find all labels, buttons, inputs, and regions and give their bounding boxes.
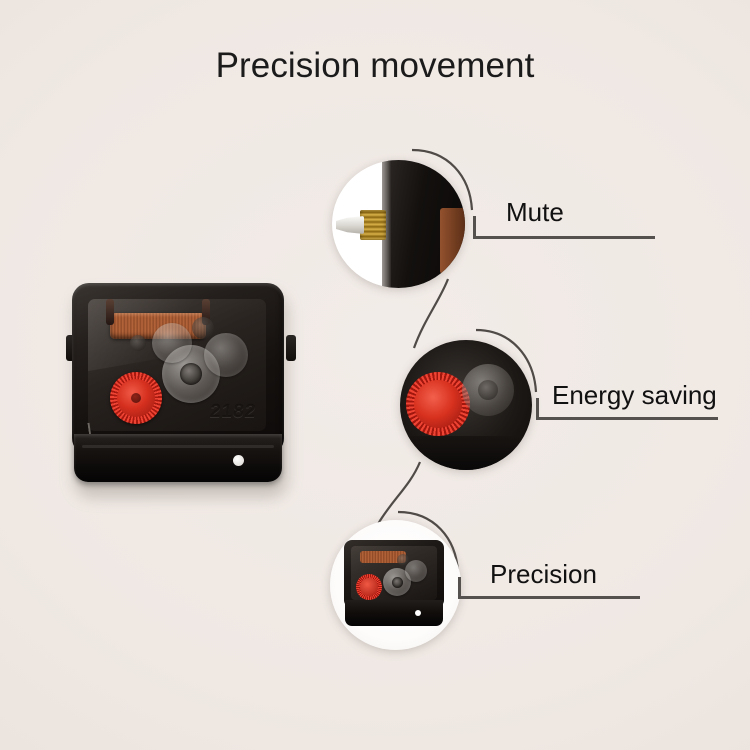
main-product-image: 2182 <box>72 283 290 498</box>
gear-small-macro <box>397 554 409 566</box>
tray-groove <box>82 445 274 448</box>
movement-housing: 2182 <box>72 283 284 455</box>
connector-mute-to-energy <box>414 279 448 348</box>
battery-tray-macro <box>345 600 443 626</box>
gear-pinion <box>130 335 146 351</box>
red-gear-hub <box>131 393 141 403</box>
callout-label-mute: Mute <box>506 196 564 228</box>
white-shaft-tip <box>336 216 364 234</box>
tray-indicator-dot-macro <box>415 610 421 616</box>
movement-macro <box>344 540 448 630</box>
grey-gear-hub-macro <box>478 380 498 400</box>
movement-clear-window: 2182 <box>88 299 266 431</box>
rule-stub-precision <box>458 577 461 598</box>
gear-large-hub-macro <box>392 577 403 588</box>
page-title: Precision movement <box>0 44 750 88</box>
callout-image-mute <box>332 160 465 288</box>
red-gear-wheel-macro-small <box>356 574 382 600</box>
infographic-canvas: Precision movement 2182 <box>0 0 750 750</box>
rule-mute <box>473 236 655 239</box>
gear-upper <box>152 323 192 363</box>
mounting-tab-right <box>286 335 296 361</box>
rule-stub-energy-saving <box>536 398 539 419</box>
callout-image-energy-saving <box>400 340 532 470</box>
coil-cap-left <box>106 299 114 325</box>
gear-right <box>204 333 248 377</box>
rule-precision <box>458 596 640 599</box>
gear-large-hub <box>180 363 202 385</box>
tray-indicator-dot <box>233 455 244 466</box>
coil-edge <box>440 208 465 274</box>
red-gear-wheel-macro <box>406 372 470 436</box>
callout-label-precision: Precision <box>490 558 597 590</box>
callout-label-mute-text: Mute <box>506 196 564 228</box>
movement-housing-macro <box>344 540 444 608</box>
callout-label-precision-text: Precision <box>490 558 597 590</box>
movement-base-edge <box>400 436 532 470</box>
movement-window-macro <box>351 546 437 600</box>
gear-small-dark <box>192 317 214 339</box>
gear-right-macro <box>405 560 427 582</box>
rule-energy-saving <box>536 417 718 420</box>
battery-tray <box>74 434 282 482</box>
red-gear-wheel <box>110 372 162 424</box>
housing-emboss-text: 2182 <box>209 401 258 423</box>
callout-label-energy-saving: Energy saving <box>552 379 717 411</box>
callout-image-precision <box>330 520 461 650</box>
connector-energy-to-precision <box>378 462 420 524</box>
callout-label-energy-saving-text: Energy saving <box>552 379 717 411</box>
